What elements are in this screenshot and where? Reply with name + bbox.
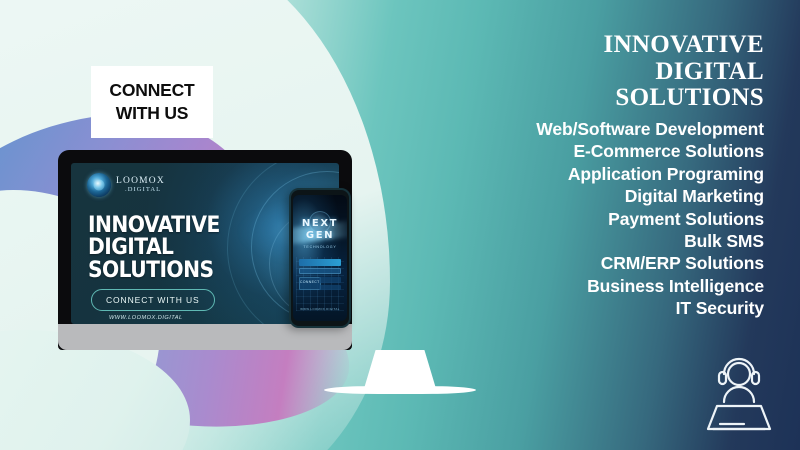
phone-headline-line-1: NEXT (293, 218, 347, 230)
service-item: IT Security (434, 297, 764, 319)
connect-with-us-card[interactable]: CONNECT WITH US (91, 66, 213, 138)
phone-panel-right-card-bottom (319, 285, 341, 290)
headline-line-1: INNOVATIVE (464, 32, 764, 59)
connect-card-line-1: CONNECT (109, 81, 194, 100)
services-list: Web/Software Development E-Commerce Solu… (434, 118, 764, 320)
screen-cta-button[interactable]: CONNECT WITH US (91, 289, 215, 311)
service-item: Web/Software Development (434, 118, 764, 140)
connect-card-line-2: WITH US (116, 104, 188, 123)
screen-headline-line-2: DIGITAL (88, 237, 220, 259)
phone-panel-header (299, 259, 341, 266)
screen-headline-line-1: INNOVATIVE (88, 215, 220, 237)
service-item: Bulk SMS (434, 230, 764, 252)
service-item: E-Commerce Solutions (434, 140, 764, 162)
services-list-items: Web/Software Development E-Commerce Solu… (434, 118, 764, 320)
screen-brand-suffix: .DIGITAL (125, 187, 165, 194)
headline-line-2: DIGITAL (464, 59, 764, 86)
promotional-poster: CONNECT WITH US LOOMOX .DIGITAL INNOVATI… (0, 0, 800, 450)
support-agent-icon (700, 344, 778, 436)
phone-panel-subheader (299, 268, 341, 274)
headline-line-3: SOLUTIONS (464, 85, 764, 112)
service-item: Digital Marketing (434, 185, 764, 207)
phone-panel-right-card-top (319, 277, 341, 283)
service-item: CRM/ERP Solutions (434, 252, 764, 274)
screen-headline-line-3: SOLUTIONS (88, 260, 220, 282)
smartphone-mockup: NEXT GEN TECHNOLOGY CONNECT WWW.LOOMOX.D… (289, 188, 351, 328)
phone-subtitle: TECHNOLOGY (293, 245, 347, 249)
phone-screen: NEXT GEN TECHNOLOGY CONNECT WWW.LOOMOX.D… (293, 195, 347, 321)
screen-brand-logo: LOOMOX .DIGITAL (87, 173, 165, 197)
monitor-stand-base (324, 386, 476, 394)
phone-cta-label[interactable]: CONNECT (300, 280, 320, 284)
screen-headline: INNOVATIVE DIGITAL SOLUTIONS (88, 215, 220, 282)
service-item: Application Programing (434, 163, 764, 185)
globe-emblem-icon (87, 173, 111, 197)
service-item: Business Intelligence (434, 275, 764, 297)
phone-footer-url: WWW.LOOMOX.DIGITAL (293, 307, 347, 311)
screen-brand-logo-text: LOOMOX .DIGITAL (116, 177, 165, 193)
phone-headline: NEXT GEN (293, 218, 347, 241)
main-headline: INNOVATIVE DIGITAL SOLUTIONS (464, 32, 764, 112)
phone-headline-line-2: GEN (293, 230, 347, 242)
screen-website-url: WWW.LOOMOX.DIGITAL (109, 315, 183, 321)
service-item: Payment Solutions (434, 208, 764, 230)
